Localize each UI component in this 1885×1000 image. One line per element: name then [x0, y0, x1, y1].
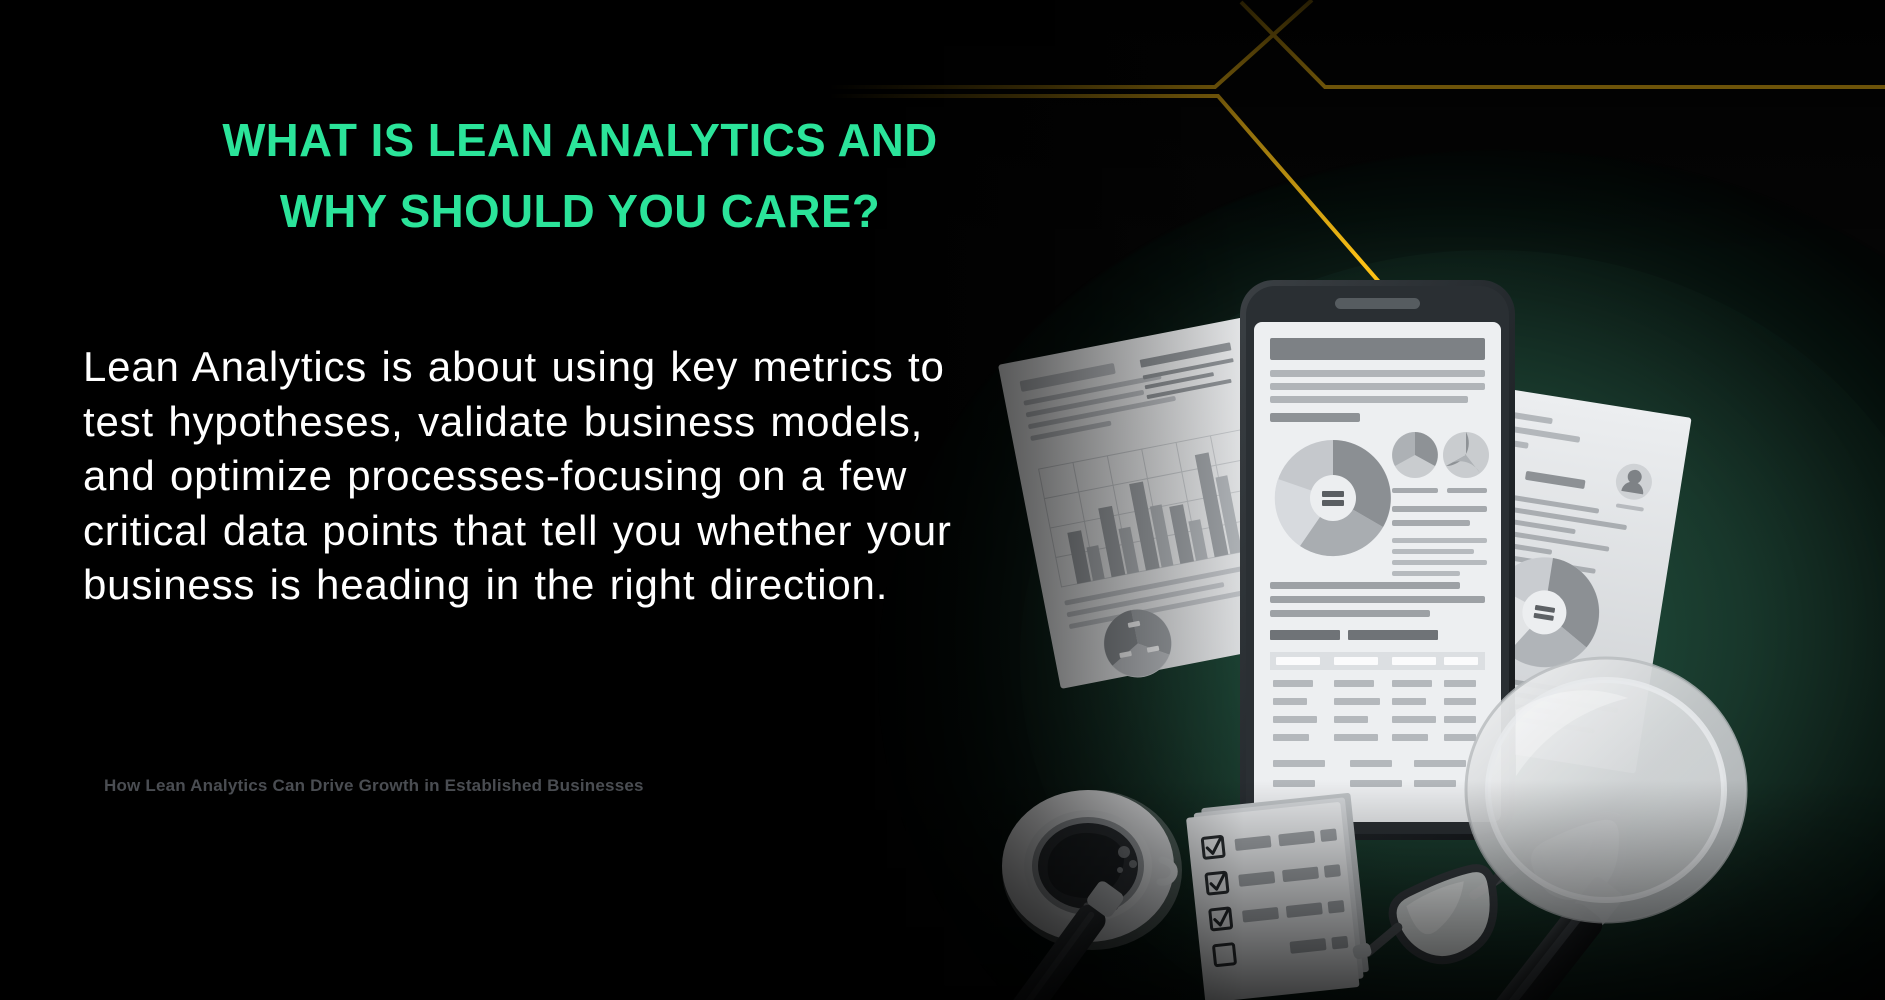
- footer-caption-overlay: How Lean Analytics Can Drive Growth in E…: [104, 776, 644, 796]
- yellow-parallelogram-bar: [122, 249, 582, 282]
- slide-canvas: WHAT IS LEAN ANALYTICS AND WHY SHOULD YO…: [0, 0, 1885, 1000]
- checklist-paper: [1185, 793, 1370, 1000]
- body-paragraph-overlay: Lean Analytics is about using key metric…: [83, 340, 983, 613]
- business-analytics-flatlay-illustration: [990, 270, 1550, 790]
- page-title-line-2-overlay: WHY SHOULD YOU CARE?: [125, 176, 1036, 247]
- page-title-overlay: WHAT IS LEAN ANALYTICS AND WHY SHOULD YO…: [125, 105, 1036, 248]
- page-title-line-1-overlay: WHAT IS LEAN ANALYTICS AND: [125, 105, 1036, 176]
- magnifying-glass: [1466, 658, 1746, 1000]
